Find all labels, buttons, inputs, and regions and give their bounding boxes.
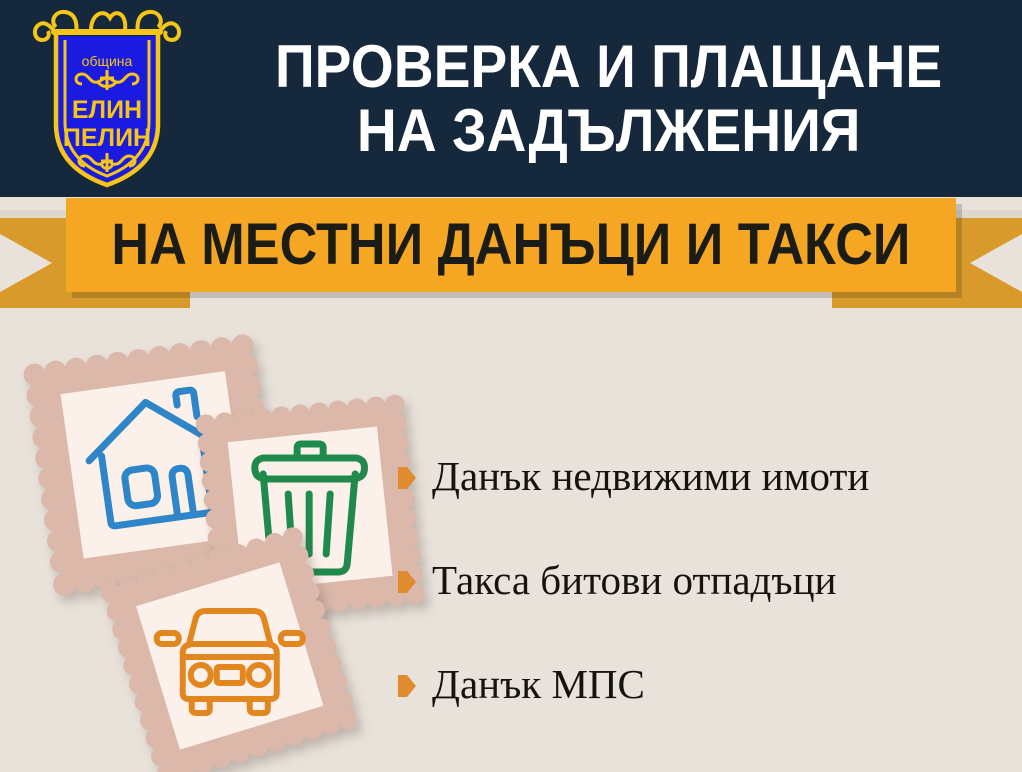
tax-type-list: Данък недвижими имоти Такса битови отпад…: [398, 424, 1008, 736]
arrow-bullet-icon: [398, 571, 416, 593]
list-item[interactable]: Данък МПС: [398, 632, 1008, 736]
logo-word-line2: ПЕЛИН: [63, 124, 151, 152]
poster-canvas: община ЕЛИН ПЕЛИН: [0, 0, 1022, 772]
arrow-bullet-icon: [398, 675, 416, 697]
ribbon-banner: НА МЕСТНИ ДАНЪЦИ И ТАКСИ: [0, 196, 1022, 308]
page-title: ПРОВЕРКА И ПЛАЩАНЕ НА ЗАДЪЛЖЕНИЯ: [196, 14, 1022, 184]
list-item-label: Такса битови отпадъци: [432, 560, 836, 601]
header-bar: община ЕЛИН ПЕЛИН: [0, 0, 1022, 197]
list-item[interactable]: Данък недвижими имоти: [398, 424, 1008, 528]
list-item-label: Данък недвижими имоти: [432, 456, 869, 497]
logo-word-line1: ЕЛИН: [72, 96, 142, 124]
ribbon-body: НА МЕСТНИ ДАНЪЦИ И ТАКСИ: [66, 198, 956, 292]
arrow-bullet-icon: [398, 467, 416, 489]
title-line-2: НА ЗАДЪЛЖЕНИЯ: [357, 99, 861, 163]
list-item[interactable]: Такса битови отпадъци: [398, 528, 1008, 632]
stamp-card-vehicle: [96, 524, 356, 772]
coat-of-arms-icon: община ЕЛИН ПЕЛИН: [32, 6, 182, 194]
title-line-1: ПРОВЕРКА И ПЛАЩАНЕ: [275, 35, 942, 99]
ribbon-label: НА МЕСТНИ ДАНЪЦИ И ТАКСИ: [111, 216, 910, 274]
list-item-label: Данък МПС: [432, 664, 645, 705]
logo-word-small: община: [82, 53, 133, 69]
municipality-logo: община ЕЛИН ПЕЛИН: [32, 6, 182, 194]
